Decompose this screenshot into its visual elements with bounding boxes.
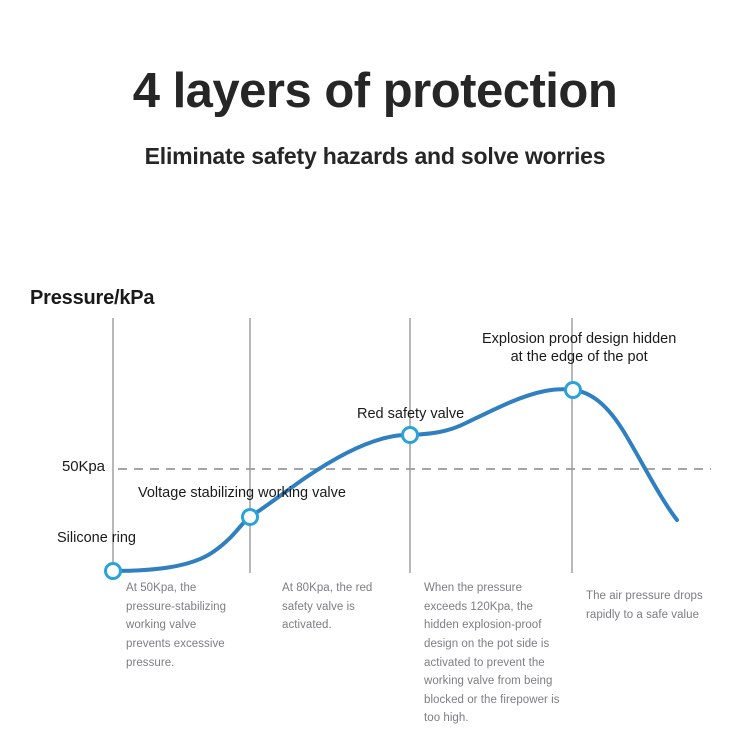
caption-stage-1: At 50Kpa, the pressure-stabilizing worki… [126,579,238,672]
annotation-explosion-proof: Explosion proof design hidden at the edg… [482,330,676,366]
chart-plot-area [0,0,750,750]
annotation-red-safety-valve: Red safety valve [357,405,464,423]
annotation-voltage-stabilizing-valve: Voltage stabilizing working valve [138,484,346,502]
curve-markers [106,383,581,579]
caption-stage-4: The air pressure drops rapidly to a safe… [586,587,738,624]
caption-stage-3: When the pressure exceeds 120Kpa, the hi… [424,579,564,728]
caption-stage-2: At 80Kpa, the red safety valve is activa… [282,579,392,635]
marker-red-safety-valve [403,428,418,443]
marker-explosion-proof [566,383,581,398]
marker-voltage-stabilizing-valve [243,510,258,525]
annotation-silicone-ring: Silicone ring [57,529,136,547]
marker-silicone-ring [106,564,121,579]
pressure-chart: Pressure/kPa 50Kpa Silicone ring Voltage… [0,0,750,750]
